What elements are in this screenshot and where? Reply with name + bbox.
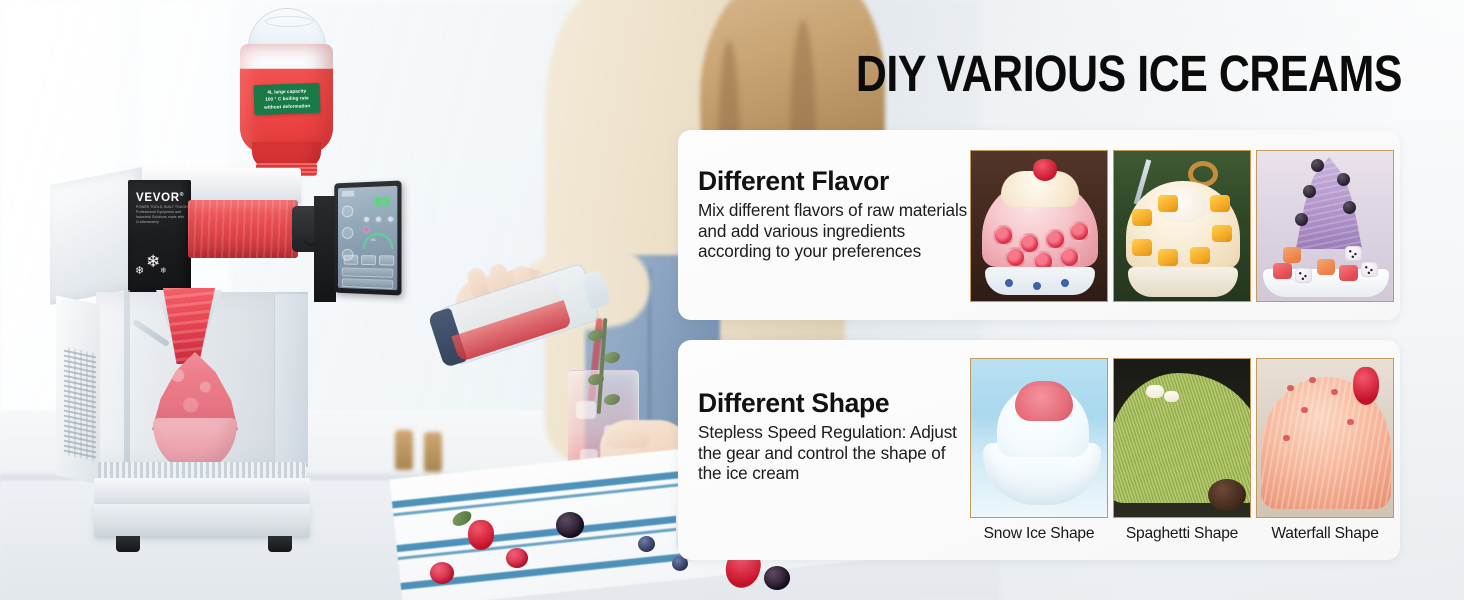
machine-base-upper (94, 478, 310, 506)
ventilation-grille (64, 347, 96, 462)
card-text-block: Different Flavor Mix different flavors o… (698, 166, 968, 262)
ice-roller (188, 200, 298, 258)
thumbnail-caption-snow-ice: Snow Ice Shape (970, 525, 1108, 543)
control-panel-screen[interactable]: 03 05 (338, 186, 397, 290)
feature-card-different-flavor: Different Flavor Mix different flavors o… (678, 130, 1400, 320)
ice-cube (576, 401, 596, 419)
thumbnail-image (971, 359, 1107, 517)
hopper-label-line-3: without deformation (264, 102, 310, 111)
panel-mode-icon-1[interactable] (342, 205, 353, 217)
control-panel[interactable]: 03 05 (334, 180, 401, 295)
machine-base-lower (94, 504, 310, 538)
panel-indicator-dot (364, 227, 369, 232)
blackberry (764, 566, 790, 590)
thumbnail-row (970, 358, 1394, 518)
card-description: Stepless Speed Regulation: Adjust the ge… (698, 422, 968, 484)
banner-headline: DIY VARIOUS ICE CREAMS (846, 46, 1402, 104)
panel-indicator-dot (388, 217, 393, 222)
machine-foot (268, 536, 292, 552)
raspberry (506, 548, 528, 568)
panel-mode-icon-2[interactable] (342, 227, 353, 239)
thumbnail-row (970, 150, 1394, 302)
panel-gauge-value: 05 (371, 239, 376, 243)
panel-logo (342, 190, 354, 196)
card-text-block: Different Shape Stepless Speed Regulatio… (698, 388, 968, 484)
thumbnail-strawberry-waterfall[interactable] (1256, 358, 1394, 518)
strawberry (468, 520, 494, 550)
panel-indicator-dot (364, 217, 369, 222)
panel-button[interactable] (361, 255, 376, 265)
thumbnail-mango-bingsu[interactable] (1113, 150, 1251, 302)
raspberry (430, 562, 454, 584)
machine-side-guard (274, 294, 308, 464)
card-title: Different Shape (698, 388, 968, 418)
thumbnail-snow-ice[interactable] (970, 358, 1108, 518)
hopper-spec-label: 4L large capacity 100 ° C boiling rate w… (253, 83, 320, 115)
thumbnail-caption-spaghetti: Spaghetti Shape (1113, 525, 1251, 543)
card-description: Mix different flavors of raw materials a… (698, 200, 968, 262)
roller-texture (188, 200, 298, 258)
thumbnail-image (1257, 359, 1393, 517)
thumbnail-image (1257, 151, 1393, 301)
snow-ice-machine: 4L large capacity 100 ° C boiling rate w… (28, 0, 428, 580)
snowflake-large-icon: ❄ (146, 252, 160, 272)
panel-button[interactable] (344, 255, 358, 265)
feature-card-different-shape: Different Shape Stepless Speed Regulatio… (678, 340, 1400, 560)
blackberry (556, 512, 584, 538)
syrup-hopper-bottle: 4L large capacity 100 ° C boiling rate w… (234, 8, 339, 173)
thumbnail-taro-fruit-bingsu[interactable] (1256, 150, 1394, 302)
snowflake-group: ❄ ❄ ❄ (134, 252, 184, 282)
vevor-wordmark: VEVOR (136, 192, 180, 204)
blueberry (638, 536, 655, 552)
thumbnail-image (1114, 359, 1250, 517)
panel-display-value: 03 (375, 195, 391, 210)
machine-divider (124, 290, 130, 468)
trademark-symbol: ® (180, 192, 184, 198)
panel-speed-gauge[interactable] (363, 233, 393, 249)
panel-button[interactable] (379, 255, 394, 265)
snowflake-medium-icon: ❄ (135, 264, 144, 277)
vevor-brand-logo: VEVOR® (136, 192, 184, 204)
vevor-brand-tagline: POWER TOOLS, BUILT TOUGH Professional Eq… (136, 205, 188, 225)
finger (606, 430, 650, 448)
machine-right-column (314, 196, 336, 302)
panel-indicator-dot (376, 217, 381, 222)
thumbnail-image (971, 151, 1107, 301)
product-banner: 4L large capacity 100 ° C boiling rate w… (0, 0, 1464, 600)
thumbnail-caption-waterfall: Waterfall Shape (1256, 525, 1394, 543)
thumbnail-strawberry-bingsu[interactable] (970, 150, 1108, 302)
thumbnail-caption-row: Snow Ice Shape Spaghetti Shape Waterfall… (970, 525, 1394, 543)
machine-foot (116, 536, 140, 552)
snowflake-small-icon: ❄ (160, 266, 167, 275)
card-title: Different Flavor (698, 166, 968, 196)
thumbnail-image (1114, 151, 1250, 301)
thumbnail-matcha-spaghetti[interactable] (1113, 358, 1251, 518)
